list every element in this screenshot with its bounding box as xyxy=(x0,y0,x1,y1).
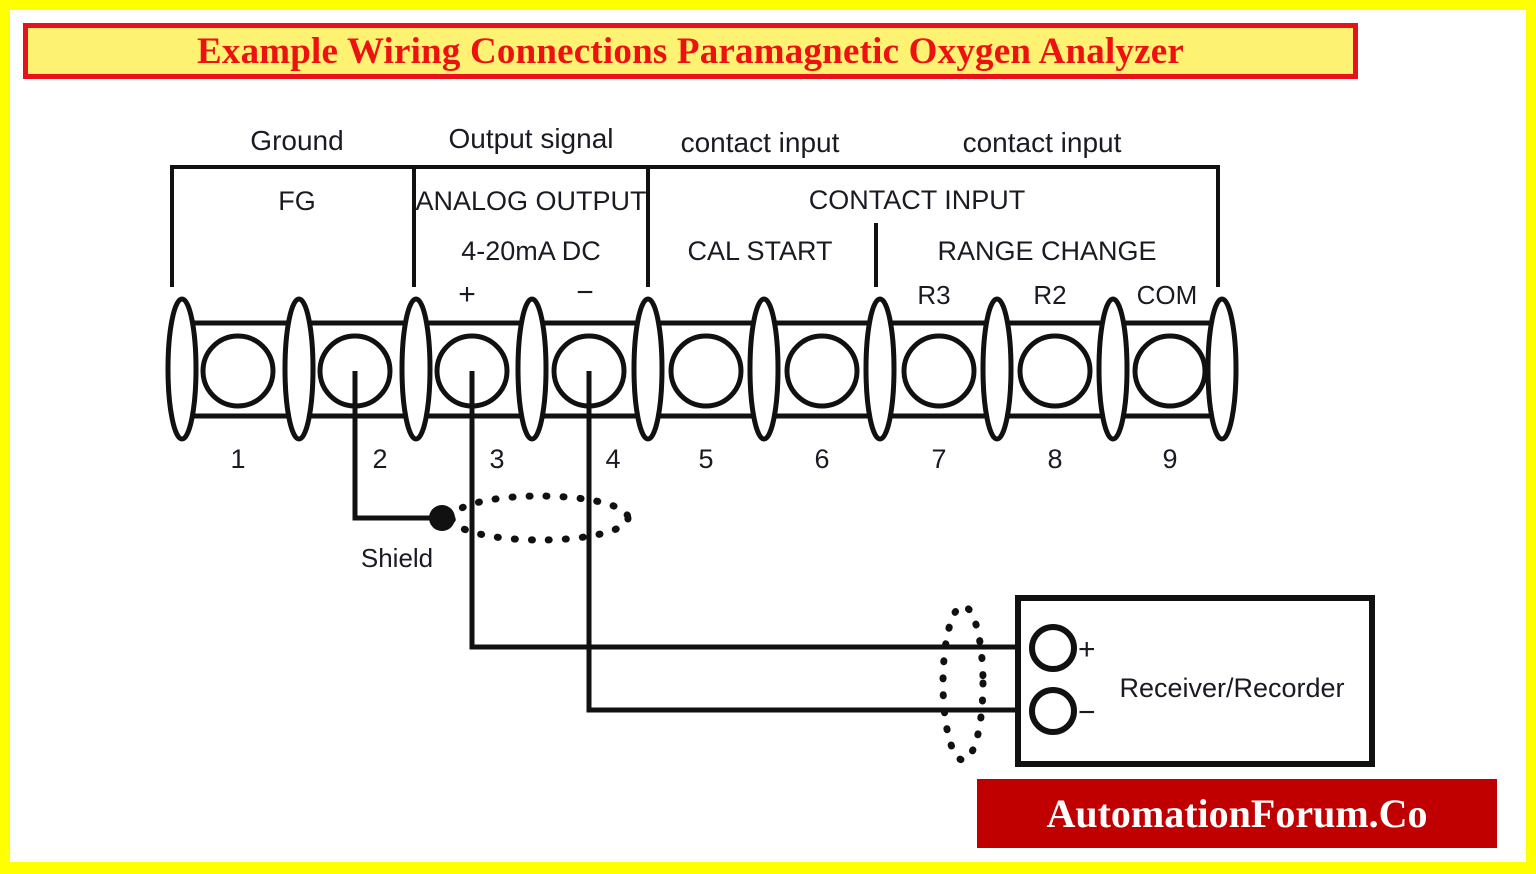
terminal-divider-6 xyxy=(866,299,894,439)
terminal-hole-6[interactable] xyxy=(787,336,857,406)
section-label-current-range: 4-20mA DC xyxy=(461,236,601,266)
terminal-hole-5[interactable] xyxy=(671,336,741,406)
section-label-contact-input: CONTACT INPUT xyxy=(809,185,1026,215)
receiver-minus-sign: − xyxy=(1078,696,1096,729)
pin-name-com: COM xyxy=(1137,280,1198,310)
pin-name-r3: R3 xyxy=(917,280,950,310)
wire-plus xyxy=(472,371,1020,647)
receiver-plus-sign: + xyxy=(1078,633,1096,666)
cable-shield-ellipse xyxy=(452,496,628,540)
terminal-number-9: 9 xyxy=(1162,444,1177,474)
section-label-list: FG ANALOG OUTPUT 4-20mA DC CONTACT INPUT… xyxy=(278,185,1156,266)
terminal-divider-9 xyxy=(1208,299,1236,439)
receiver-terminal-minus[interactable] xyxy=(1032,690,1074,732)
terminal-4-minus-sign: − xyxy=(576,276,594,309)
section-bracket xyxy=(170,167,1220,287)
terminal-hole-1[interactable] xyxy=(203,336,273,406)
shield-label: Shield xyxy=(361,543,433,573)
title-banner: Example Wiring Connections Paramagnetic … xyxy=(23,23,1358,79)
section-label-cal-start: CAL START xyxy=(687,236,832,266)
terminal-number-7: 7 xyxy=(931,444,946,474)
terminal-divider-7 xyxy=(983,299,1011,439)
terminal-divider-2 xyxy=(402,299,430,439)
terminal-number-6: 6 xyxy=(814,444,829,474)
group-label-list: Ground Output signal contact input conta… xyxy=(250,123,1121,158)
watermark-badge: AutomationForum.Co xyxy=(977,779,1497,848)
terminal-divider-3 xyxy=(518,299,546,439)
terminal-divider-0 xyxy=(168,299,196,439)
terminal-number-5: 5 xyxy=(698,444,713,474)
terminal-divider-4 xyxy=(634,299,662,439)
cable-cross-section-ellipse xyxy=(943,606,983,760)
group-label-contact-input-2: contact input xyxy=(963,127,1122,158)
terminal-divider-1 xyxy=(285,299,313,439)
terminal-block xyxy=(168,299,1236,439)
terminal-number-4: 4 xyxy=(605,444,620,474)
group-label-ground: Ground xyxy=(250,125,343,156)
receiver-recorder: + − Receiver/Recorder xyxy=(1018,598,1372,764)
section-label-range-change: RANGE CHANGE xyxy=(937,236,1156,266)
terminal-hole-7[interactable] xyxy=(904,336,974,406)
page-root: Ground Output signal contact input conta… xyxy=(0,0,1536,874)
terminal-divider-5 xyxy=(750,299,778,439)
pin-name-list: R3 R2 COM xyxy=(917,280,1197,310)
terminal-number-8: 8 xyxy=(1047,444,1062,474)
terminal-number-1: 1 xyxy=(230,444,245,474)
receiver-label: Receiver/Recorder xyxy=(1119,673,1344,703)
group-label-output-signal: Output signal xyxy=(449,123,614,154)
terminal-3-plus-sign: + xyxy=(458,278,476,311)
section-label-analog-output: ANALOG OUTPUT xyxy=(415,186,646,216)
watermark-label: AutomationForum.Co xyxy=(1046,794,1427,834)
diagram-canvas: Ground Output signal contact input conta… xyxy=(10,10,1526,862)
wire-list xyxy=(355,371,1020,710)
section-label-fg: FG xyxy=(278,186,316,216)
pin-name-r2: R2 xyxy=(1033,280,1066,310)
terminal-hole-8[interactable] xyxy=(1020,336,1090,406)
wiring-diagram: Ground Output signal contact input conta… xyxy=(10,10,1526,862)
terminal-divider-8 xyxy=(1099,299,1127,439)
terminal-number-2: 2 xyxy=(372,444,387,474)
terminal-number-list: 1 2 3 4 5 6 7 8 9 xyxy=(230,444,1177,474)
terminal-number-3: 3 xyxy=(489,444,504,474)
receiver-terminal-plus[interactable] xyxy=(1032,627,1074,669)
terminal-hole-9[interactable] xyxy=(1135,336,1205,406)
page-title: Example Wiring Connections Paramagnetic … xyxy=(197,33,1184,70)
group-label-contact-input-1: contact input xyxy=(681,127,840,158)
